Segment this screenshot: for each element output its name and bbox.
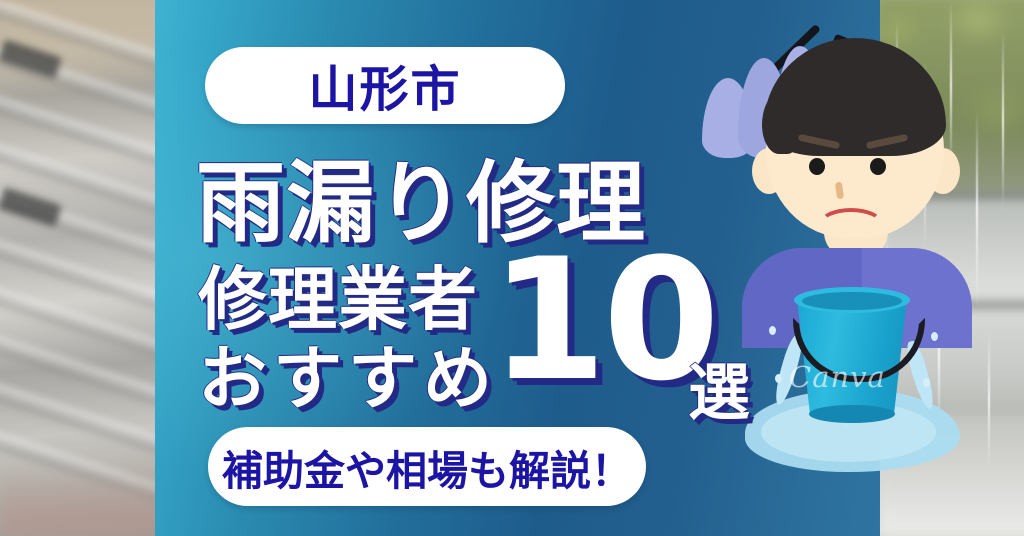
subtitle-badge-label: 補助金や相場も解説！ — [222, 437, 632, 497]
man-frowning-mouth — [818, 208, 884, 242]
city-badge: 山形市 — [205, 47, 565, 124]
city-badge-label: 山形市 — [308, 50, 461, 121]
roof-bottom-tint — [0, 466, 158, 536]
rain-streak — [988, 330, 990, 470]
rain-streak — [976, 110, 978, 310]
subtitle-badge: 補助金や相場も解説！ — [208, 427, 646, 506]
rain-streak — [1002, 30, 1004, 210]
water-droplet — [769, 326, 776, 335]
bucket-bottom — [809, 405, 895, 423]
water-droplet — [931, 332, 938, 341]
water-droplet — [775, 374, 782, 383]
worried-man-illustration — [752, 30, 962, 320]
bucket-rim-inner — [802, 292, 902, 310]
leaking-bucket-illustration: Canva — [745, 282, 960, 482]
left-roof-photo — [0, 0, 158, 536]
headline-sub-2: おすすめ — [198, 322, 498, 422]
man-eye-left — [809, 158, 825, 175]
headline-count: 10 — [490, 236, 716, 404]
man-eye-right — [870, 158, 886, 175]
left-photo-blur-layer — [0, 0, 158, 536]
headline-count-suffix: 選 — [688, 342, 750, 432]
roof-dark-patch — [0, 187, 62, 226]
canva-watermark: Canva — [789, 360, 939, 394]
banner-thumbnail: Canva 山形市 雨漏り修理 修理業者 おすすめ 10 選 補助金や相場も解説… — [0, 0, 1024, 536]
man-sideburn — [762, 92, 798, 154]
